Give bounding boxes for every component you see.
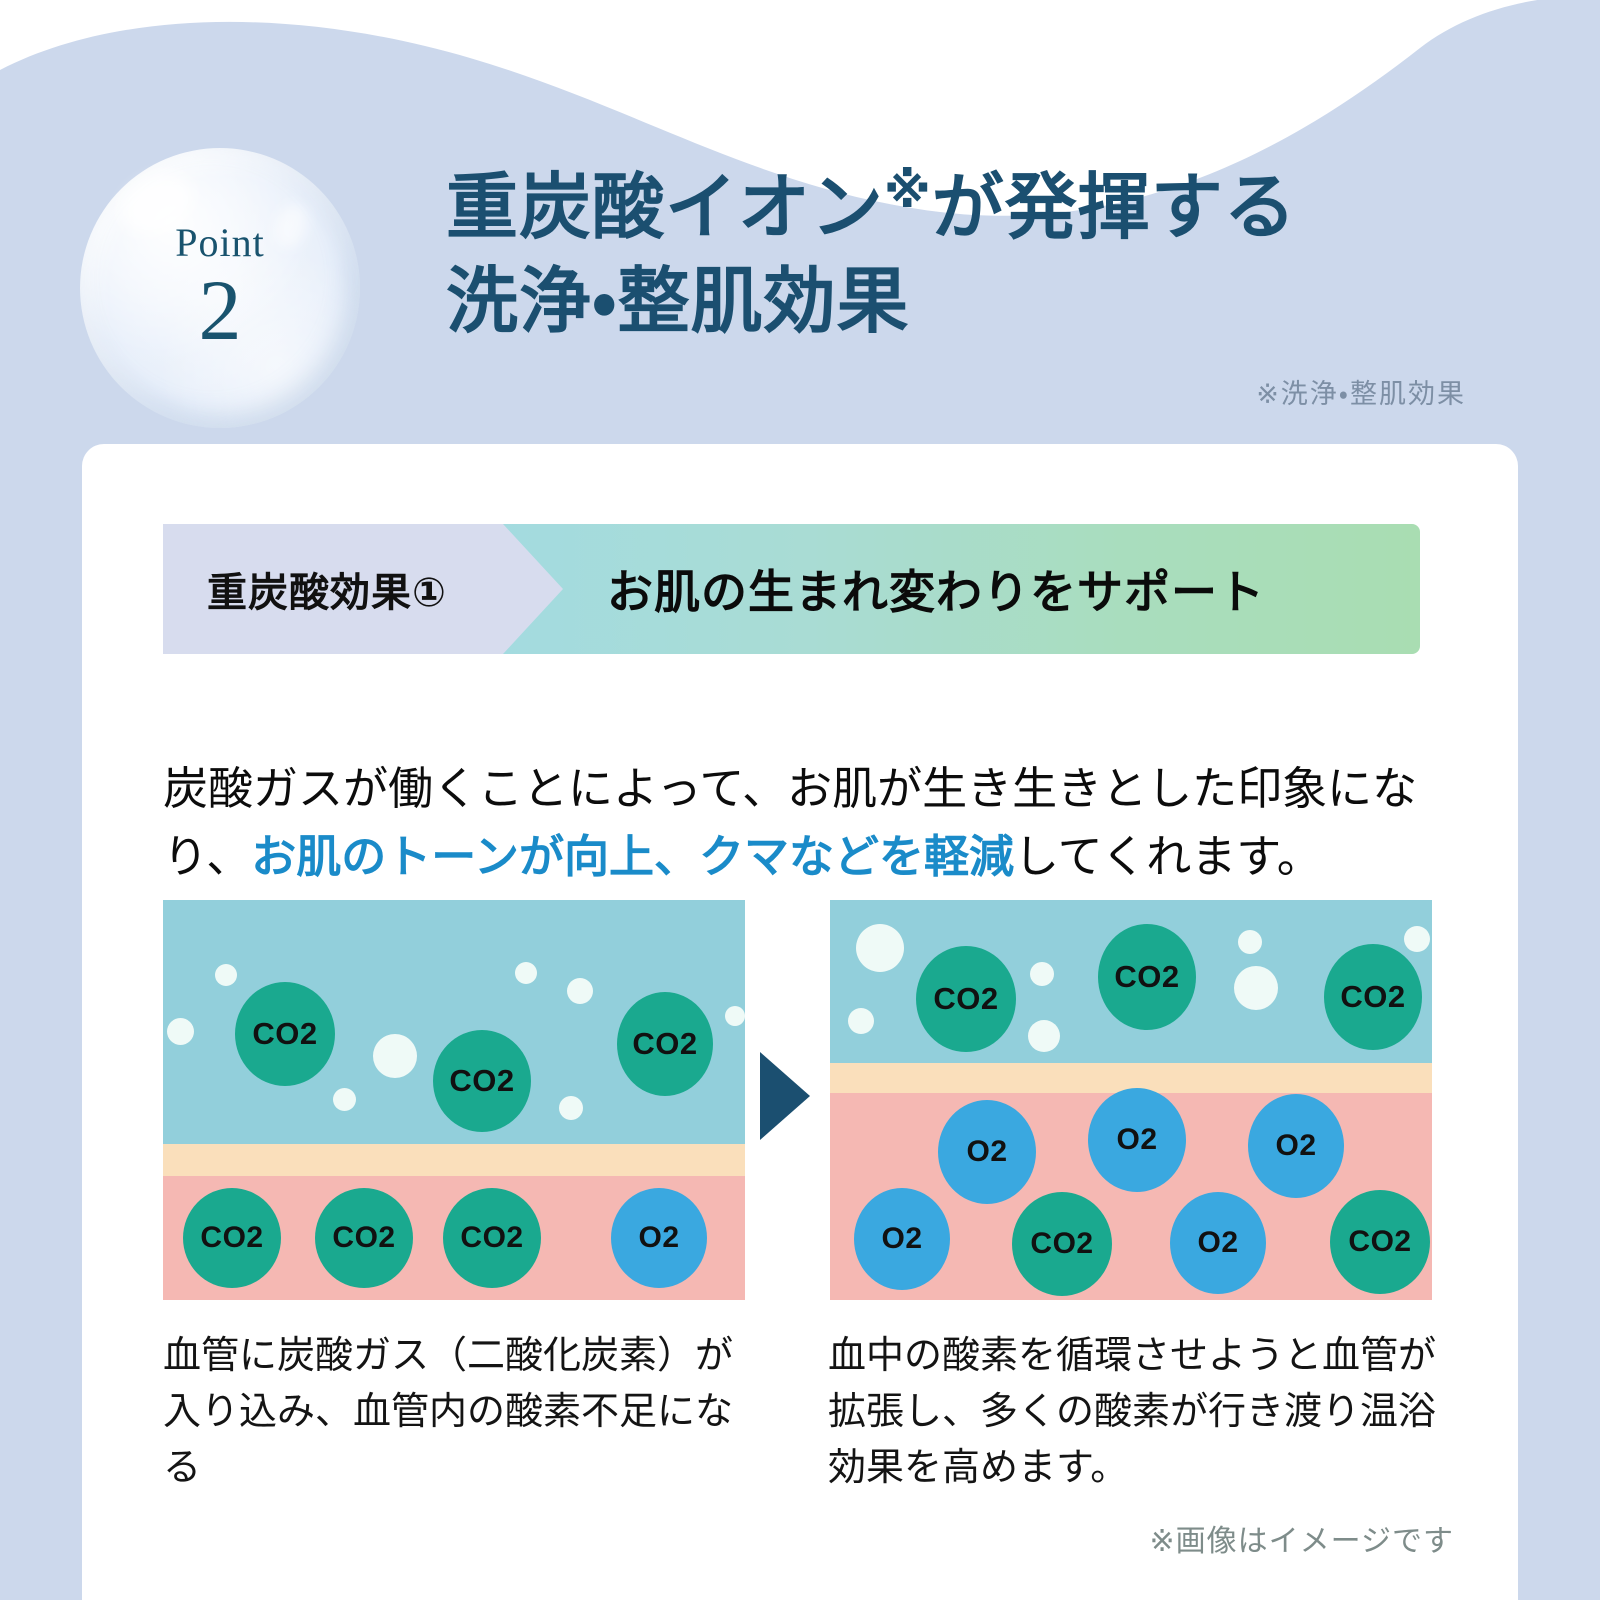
water-bubble (333, 1088, 356, 1111)
molecule-o2: O2 (938, 1100, 1036, 1204)
layer-skin-barrier-left (163, 1144, 745, 1176)
molecule-co2: CO2 (433, 1030, 531, 1132)
molecule-co2: CO2 (617, 992, 713, 1096)
molecule-label: CO2 (460, 1221, 523, 1255)
diagram-after: CO2 CO2 CO2 O2 O2 O2 O2 O2 CO2 CO2 (830, 900, 1432, 1300)
water-bubble (1028, 1020, 1060, 1052)
bubble-highlight-small (270, 200, 312, 251)
water-bubble (167, 1018, 194, 1045)
molecule-co2: CO2 (183, 1188, 281, 1288)
body-text-highlight: お肌のトーンが向上、クマなどを軽減 (251, 831, 1014, 882)
molecule-label: CO2 (332, 1221, 395, 1255)
molecule-co2: CO2 (1098, 924, 1196, 1030)
infographic-stage: Point 2 重炭酸イオン※が発揮する 洗浄・整肌効果 ※洗浄・整肌効果 重炭… (0, 0, 1600, 1600)
molecule-co2: CO2 (315, 1188, 413, 1288)
molecule-o2: O2 (611, 1188, 707, 1288)
headline-line1-part2: が発揮する (932, 168, 1297, 248)
point-badge-bubble: Point 2 (80, 148, 360, 428)
molecule-o2: O2 (854, 1188, 950, 1290)
water-bubble (856, 924, 904, 972)
water-bubble (1404, 926, 1430, 952)
molecule-co2: CO2 (916, 946, 1016, 1052)
molecule-label: O2 (966, 1135, 1007, 1169)
molecule-label: O2 (881, 1222, 922, 1256)
headline-line1-part1: 重炭酸イオン (446, 168, 884, 248)
molecule-label: O2 (638, 1221, 679, 1255)
molecule-label: CO2 (200, 1221, 263, 1255)
molecule-label: CO2 (933, 981, 998, 1017)
body-text-segment-2: してくれます。 (1014, 831, 1322, 882)
headline-line2: 洗浄・整肌効果 (446, 262, 909, 342)
diagram-before: CO2 CO2 CO2 CO2 CO2 CO2 O2 (163, 900, 745, 1300)
water-bubble (515, 962, 537, 984)
water-bubble (215, 964, 237, 986)
molecule-label: CO2 (1114, 959, 1179, 995)
molecule-label: O2 (1116, 1123, 1157, 1157)
effect-banner: 重炭酸効果① お肌の生まれ変わりをサポート (163, 524, 1420, 654)
water-bubble (725, 1006, 745, 1026)
image-disclaimer: ※画像はイメージです (1149, 1516, 1454, 1560)
molecule-o2: O2 (1170, 1192, 1266, 1294)
molecule-o2: O2 (1248, 1094, 1344, 1198)
banner-tag-label: 重炭酸効果① (207, 560, 447, 618)
molecule-label: CO2 (449, 1063, 514, 1099)
molecule-label: CO2 (252, 1016, 317, 1052)
point-number: 2 (199, 267, 242, 353)
body-paragraph: 炭酸ガスが働くことによって、お肌が生き生きとした印象になり、お肌のトーンが向上、… (163, 755, 1431, 892)
molecule-co2: CO2 (1324, 944, 1422, 1050)
water-bubble (373, 1034, 417, 1078)
molecule-label: CO2 (1030, 1227, 1093, 1261)
banner-title: お肌の生まれ変わりをサポート (607, 524, 1265, 654)
molecule-label: CO2 (1340, 979, 1405, 1015)
water-bubble (1238, 930, 1262, 954)
water-bubble (1234, 966, 1278, 1010)
water-bubble (559, 1096, 583, 1120)
molecule-label: CO2 (1348, 1225, 1411, 1259)
molecule-co2: CO2 (1012, 1192, 1112, 1296)
headline-reference-mark: ※ (884, 165, 932, 218)
molecule-label: O2 (1275, 1129, 1316, 1163)
right-triangle-arrow-icon (760, 1052, 810, 1140)
molecule-co2: CO2 (443, 1188, 541, 1288)
banner-tag: 重炭酸効果① (163, 524, 563, 654)
page-title: 重炭酸イオン※が発揮する 洗浄・整肌効果 (446, 162, 1466, 349)
molecule-co2: CO2 (235, 982, 335, 1086)
water-bubble (848, 1008, 874, 1034)
water-bubble (567, 978, 593, 1004)
molecule-label: O2 (1197, 1226, 1238, 1260)
diagram-after-caption: 血中の酸素を循環させようと血管が拡張し、多くの酸素が行き渡り温浴効果を高めます。 (828, 1328, 1448, 1497)
point-label: Point (175, 223, 264, 263)
water-bubble (1030, 962, 1054, 986)
molecule-co2: CO2 (1330, 1190, 1430, 1294)
molecule-o2: O2 (1088, 1088, 1186, 1192)
headline-footnote: ※洗浄・整肌効果 (1256, 372, 1466, 411)
diagram-before-caption: 血管に炭酸ガス（二酸化炭素）が入り込み、血管内の酸素不足になる (163, 1328, 763, 1497)
molecule-label: CO2 (632, 1026, 697, 1062)
